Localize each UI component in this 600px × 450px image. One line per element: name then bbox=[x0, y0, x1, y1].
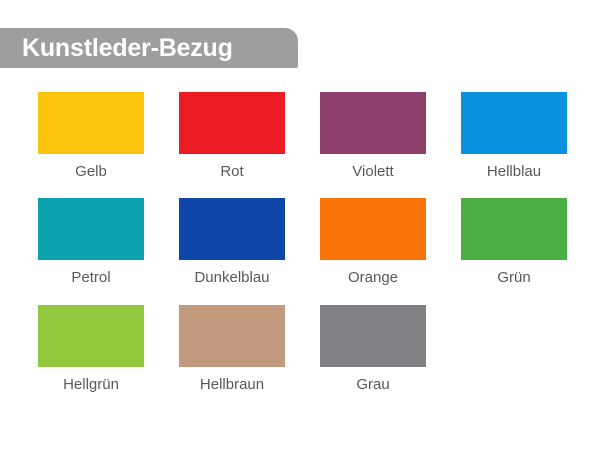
color-chip[interactable] bbox=[179, 198, 285, 260]
color-chip[interactable] bbox=[320, 198, 426, 260]
color-palette-page: Kunstleder-Bezug Gelb Rot Violett Hellbl… bbox=[0, 0, 600, 450]
swatch-label: Petrol bbox=[71, 268, 110, 288]
swatch-item-hellbraun[interactable]: Hellbraun bbox=[179, 305, 285, 395]
swatch-row: Gelb Rot Violett Hellblau bbox=[38, 92, 566, 182]
swatch-label: Hellgrün bbox=[63, 375, 119, 395]
color-swatch-grid: Gelb Rot Violett Hellblau Petrol D bbox=[38, 92, 566, 411]
swatch-item-dunkelblau[interactable]: Dunkelblau bbox=[179, 198, 285, 288]
swatch-row: Petrol Dunkelblau Orange Grün bbox=[38, 198, 566, 288]
color-chip[interactable] bbox=[38, 198, 144, 260]
swatch-item-grau[interactable]: Grau bbox=[320, 305, 426, 395]
color-chip[interactable] bbox=[38, 92, 144, 154]
swatch-item-gruen[interactable]: Grün bbox=[461, 198, 567, 288]
color-chip[interactable] bbox=[38, 305, 144, 367]
swatch-item-gelb[interactable]: Gelb bbox=[38, 92, 144, 182]
swatch-label: Dunkelblau bbox=[194, 268, 269, 288]
swatch-item-orange[interactable]: Orange bbox=[320, 198, 426, 288]
swatch-row: Hellgrün Hellbraun Grau bbox=[38, 305, 566, 395]
swatch-label: Grau bbox=[356, 375, 389, 395]
swatch-label: Orange bbox=[348, 268, 398, 288]
color-chip[interactable] bbox=[320, 92, 426, 154]
swatch-label: Hellbraun bbox=[200, 375, 264, 395]
swatch-item-violett[interactable]: Violett bbox=[320, 92, 426, 182]
swatch-item-rot[interactable]: Rot bbox=[179, 92, 285, 182]
color-chip[interactable] bbox=[320, 305, 426, 367]
swatch-item-hellblau[interactable]: Hellblau bbox=[461, 92, 567, 182]
page-title: Kunstleder-Bezug bbox=[22, 36, 233, 61]
swatch-label: Grün bbox=[497, 268, 530, 288]
header-banner: Kunstleder-Bezug bbox=[0, 28, 298, 68]
color-chip[interactable] bbox=[179, 305, 285, 367]
swatch-label: Gelb bbox=[75, 162, 107, 182]
color-chip[interactable] bbox=[461, 92, 567, 154]
swatch-label: Violett bbox=[352, 162, 393, 182]
swatch-label: Rot bbox=[220, 162, 243, 182]
swatch-item-petrol[interactable]: Petrol bbox=[38, 198, 144, 288]
color-chip[interactable] bbox=[179, 92, 285, 154]
swatch-item-hellgruen[interactable]: Hellgrün bbox=[38, 305, 144, 395]
swatch-label: Hellblau bbox=[487, 162, 541, 182]
color-chip[interactable] bbox=[461, 198, 567, 260]
